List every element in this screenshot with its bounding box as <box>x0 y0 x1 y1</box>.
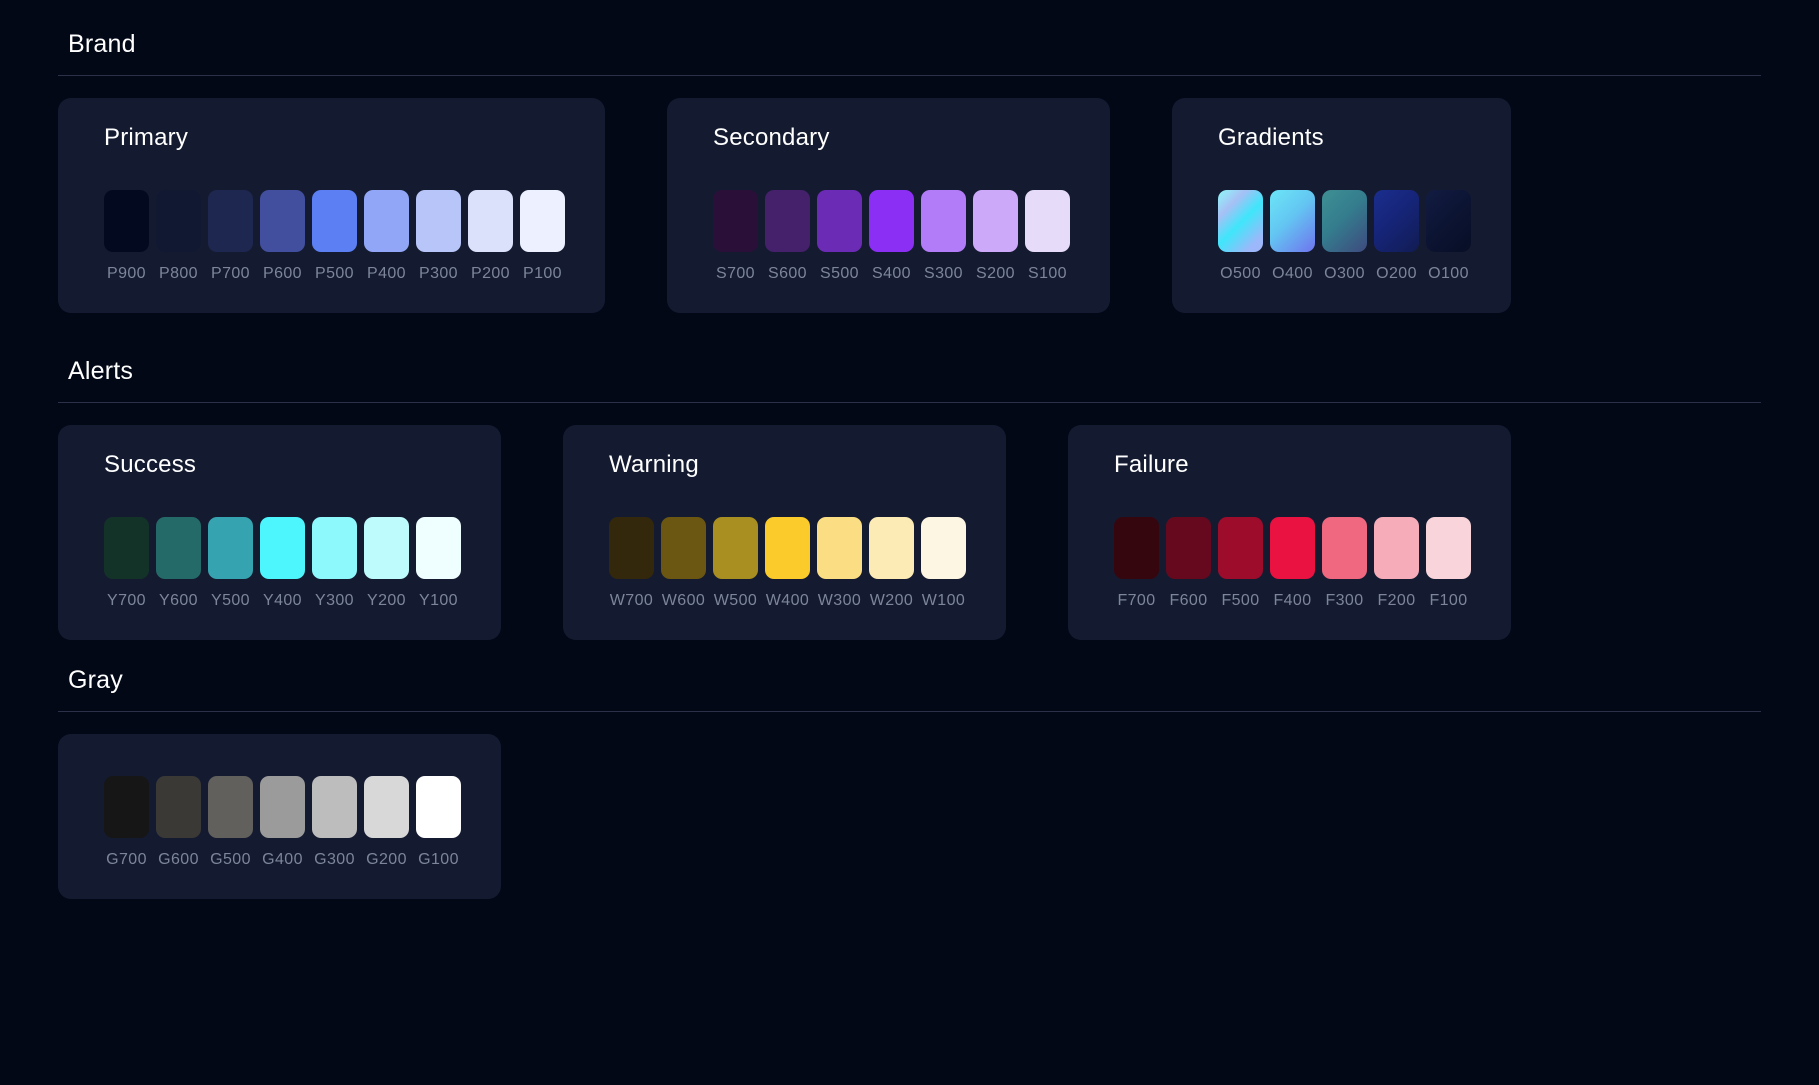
swatch-item[interactable]: G700 <box>104 776 149 869</box>
swatch-label: P500 <box>315 265 354 283</box>
swatch-item[interactable]: S100 <box>1025 190 1070 283</box>
color-swatch[interactable] <box>416 517 461 579</box>
swatch-item[interactable]: S400 <box>869 190 914 283</box>
palette-card-failure: Failure F700F600F500F400F300F200F100 <box>1068 425 1511 640</box>
color-swatch[interactable] <box>312 776 357 838</box>
color-swatch[interactable] <box>765 190 810 252</box>
swatch-label: F100 <box>1429 592 1467 610</box>
swatch-label: G700 <box>106 851 147 869</box>
swatch-item[interactable]: G500 <box>208 776 253 869</box>
swatch-item[interactable]: S300 <box>921 190 966 283</box>
color-swatch[interactable] <box>609 517 654 579</box>
swatch-label: F600 <box>1169 592 1207 610</box>
swatch-strip-secondary: S700S600S500S400S300S200S100 <box>713 190 1070 283</box>
color-swatch[interactable] <box>364 776 409 838</box>
swatch-item[interactable]: G600 <box>156 776 201 869</box>
swatch-item[interactable]: F500 <box>1218 517 1263 610</box>
swatch-label: G400 <box>262 851 303 869</box>
swatch-label: W600 <box>662 592 705 610</box>
swatch-label: O200 <box>1376 265 1417 283</box>
swatch-item[interactable]: P800 <box>156 190 201 283</box>
swatch-item[interactable]: P600 <box>260 190 305 283</box>
swatch-label: P900 <box>107 265 146 283</box>
color-swatch[interactable] <box>1322 517 1367 579</box>
color-swatch[interactable] <box>921 517 966 579</box>
swatch-item[interactable]: P900 <box>104 190 149 283</box>
swatch-label: F500 <box>1221 592 1259 610</box>
color-swatch[interactable] <box>416 776 461 838</box>
card-title-warning: Warning <box>609 451 966 479</box>
color-swatch[interactable] <box>1322 190 1367 252</box>
swatch-label: Y500 <box>211 592 250 610</box>
section-brand: Brand Primary P900P800P700P600P500P400P3… <box>58 30 1761 313</box>
swatch-item[interactable]: G200 <box>364 776 409 869</box>
color-swatch[interactable] <box>713 190 758 252</box>
swatch-item[interactable]: F700 <box>1114 517 1159 610</box>
swatch-label: F300 <box>1325 592 1363 610</box>
swatch-item[interactable]: P100 <box>520 190 565 283</box>
color-swatch[interactable] <box>1426 190 1471 252</box>
swatch-label: G600 <box>158 851 199 869</box>
swatch-item[interactable]: P300 <box>416 190 461 283</box>
swatch-label: Y200 <box>367 592 406 610</box>
color-swatch[interactable] <box>713 517 758 579</box>
swatch-label: P300 <box>419 265 458 283</box>
swatch-strip-primary: P900P800P700P600P500P400P300P200P100 <box>104 190 565 283</box>
color-swatch[interactable] <box>1218 190 1263 252</box>
palette-card-warning: Warning W700W600W500W400W300W200W100 <box>563 425 1006 640</box>
swatch-label: W500 <box>714 592 757 610</box>
color-swatch[interactable] <box>416 190 461 252</box>
swatch-label: S500 <box>820 265 859 283</box>
color-swatch[interactable] <box>973 190 1018 252</box>
color-swatch[interactable] <box>104 776 149 838</box>
card-title-success: Success <box>104 451 461 479</box>
swatch-label: G200 <box>366 851 407 869</box>
swatch-item[interactable]: W500 <box>713 517 758 610</box>
palette-card-gray: G700G600G500G400G300G200G100 <box>58 734 501 899</box>
swatch-item[interactable]: Y600 <box>156 517 201 610</box>
swatch-label: Y700 <box>107 592 146 610</box>
swatch-label: W200 <box>870 592 913 610</box>
swatch-item[interactable]: Y400 <box>260 517 305 610</box>
color-swatch[interactable] <box>817 517 862 579</box>
swatch-item[interactable]: W200 <box>869 517 914 610</box>
swatch-label: P100 <box>523 265 562 283</box>
card-title-gradients: Gradients <box>1218 124 1471 152</box>
swatch-item[interactable]: Y200 <box>364 517 409 610</box>
color-swatch[interactable] <box>260 517 305 579</box>
color-swatch[interactable] <box>1114 517 1159 579</box>
palette-card-success: Success Y700Y600Y500Y400Y300Y200Y100 <box>58 425 501 640</box>
section-alerts: Alerts Success Y700Y600Y500Y400Y300Y200Y… <box>58 357 1761 640</box>
color-swatch[interactable] <box>869 190 914 252</box>
swatch-item[interactable]: O100 <box>1426 190 1471 283</box>
palette-card-primary: Primary P900P800P700P600P500P400P300P200… <box>58 98 605 313</box>
swatch-item[interactable]: F200 <box>1374 517 1419 610</box>
swatch-item[interactable]: O400 <box>1270 190 1315 283</box>
color-swatch[interactable] <box>661 517 706 579</box>
color-swatch[interactable] <box>208 517 253 579</box>
swatch-item[interactable]: F600 <box>1166 517 1211 610</box>
color-swatch[interactable] <box>208 190 253 252</box>
swatch-label: G500 <box>210 851 251 869</box>
swatch-item[interactable]: P400 <box>364 190 409 283</box>
color-swatch[interactable] <box>260 190 305 252</box>
swatch-label: S700 <box>716 265 755 283</box>
color-swatch[interactable] <box>520 190 565 252</box>
swatch-item[interactable]: Y700 <box>104 517 149 610</box>
swatch-item[interactable]: W100 <box>921 517 966 610</box>
swatch-item[interactable]: O200 <box>1374 190 1419 283</box>
swatch-strip-warning: W700W600W500W400W300W200W100 <box>609 517 966 610</box>
swatch-label: W400 <box>766 592 809 610</box>
swatch-label: S200 <box>976 265 1015 283</box>
palette-card-gradients: Gradients O500O400O300O200O100 <box>1172 98 1511 313</box>
swatch-label: G300 <box>314 851 355 869</box>
color-palette-page: Brand Primary P900P800P700P600P500P400P3… <box>0 0 1819 1085</box>
color-swatch[interactable] <box>364 190 409 252</box>
swatch-item[interactable]: G400 <box>260 776 305 869</box>
color-swatch[interactable] <box>312 190 357 252</box>
section-heading-gray: Gray <box>58 666 1761 711</box>
swatch-strip-gray: G700G600G500G400G300G200G100 <box>104 776 461 869</box>
swatch-label: P600 <box>263 265 302 283</box>
color-swatch[interactable] <box>156 517 201 579</box>
swatch-item[interactable]: S700 <box>713 190 758 283</box>
swatch-strip-success: Y700Y600Y500Y400Y300Y200Y100 <box>104 517 461 610</box>
card-row-brand: Primary P900P800P700P600P500P400P300P200… <box>58 98 1761 313</box>
section-heading-brand: Brand <box>58 30 1761 75</box>
swatch-item[interactable]: P200 <box>468 190 513 283</box>
swatch-item[interactable]: S600 <box>765 190 810 283</box>
swatch-strip-gradients: O500O400O300O200O100 <box>1218 190 1471 283</box>
swatch-label: P800 <box>159 265 198 283</box>
swatch-label: O300 <box>1324 265 1365 283</box>
swatch-item[interactable]: S200 <box>973 190 1018 283</box>
card-title-secondary: Secondary <box>713 124 1070 152</box>
color-swatch[interactable] <box>921 190 966 252</box>
swatch-item[interactable]: P500 <box>312 190 357 283</box>
color-swatch[interactable] <box>1270 517 1315 579</box>
swatch-item[interactable]: W700 <box>609 517 654 610</box>
section-gray: Gray G700G600G500G400G300G200G100 <box>58 666 1761 899</box>
palette-card-secondary: Secondary S700S600S500S400S300S200S100 <box>667 98 1110 313</box>
swatch-label: Y600 <box>159 592 198 610</box>
color-swatch[interactable] <box>260 776 305 838</box>
swatch-label: P700 <box>211 265 250 283</box>
swatch-label: O400 <box>1272 265 1313 283</box>
section-heading-alerts: Alerts <box>58 357 1761 402</box>
swatch-item[interactable]: O300 <box>1322 190 1367 283</box>
swatch-item[interactable]: F400 <box>1270 517 1315 610</box>
swatch-label: F700 <box>1117 592 1155 610</box>
swatch-label: G100 <box>418 851 459 869</box>
swatch-label: Y400 <box>263 592 302 610</box>
color-swatch[interactable] <box>869 517 914 579</box>
card-title-primary: Primary <box>104 124 565 152</box>
swatch-label: Y100 <box>419 592 458 610</box>
swatch-item[interactable]: G300 <box>312 776 357 869</box>
swatch-label: O100 <box>1428 265 1469 283</box>
card-row-alerts: Success Y700Y600Y500Y400Y300Y200Y100 War… <box>58 425 1761 640</box>
section-divider-gray <box>58 711 1761 712</box>
color-swatch[interactable] <box>1374 517 1419 579</box>
color-swatch[interactable] <box>156 190 201 252</box>
swatch-item[interactable]: P700 <box>208 190 253 283</box>
swatch-label: S400 <box>872 265 911 283</box>
swatch-label: W700 <box>610 592 653 610</box>
swatch-label: Y300 <box>315 592 354 610</box>
color-swatch[interactable] <box>765 517 810 579</box>
swatch-item[interactable]: W600 <box>661 517 706 610</box>
color-swatch[interactable] <box>1270 190 1315 252</box>
color-swatch[interactable] <box>468 190 513 252</box>
swatch-item[interactable]: Y100 <box>416 517 461 610</box>
color-swatch[interactable] <box>364 517 409 579</box>
swatch-label: P400 <box>367 265 406 283</box>
swatch-label: S600 <box>768 265 807 283</box>
section-divider-brand <box>58 75 1761 76</box>
swatch-label: W100 <box>922 592 965 610</box>
card-title-failure: Failure <box>1114 451 1471 479</box>
color-swatch[interactable] <box>817 190 862 252</box>
swatch-item[interactable]: F100 <box>1426 517 1471 610</box>
section-divider-alerts <box>58 402 1761 403</box>
color-swatch[interactable] <box>1374 190 1419 252</box>
swatch-label: O500 <box>1220 265 1261 283</box>
color-swatch[interactable] <box>156 776 201 838</box>
swatch-item[interactable]: W400 <box>765 517 810 610</box>
swatch-item[interactable]: Y500 <box>208 517 253 610</box>
swatch-label: F200 <box>1377 592 1415 610</box>
color-swatch[interactable] <box>104 190 149 252</box>
swatch-item[interactable]: F300 <box>1322 517 1367 610</box>
swatch-item[interactable]: G100 <box>416 776 461 869</box>
color-swatch[interactable] <box>208 776 253 838</box>
swatch-label: F400 <box>1273 592 1311 610</box>
color-swatch[interactable] <box>1426 517 1471 579</box>
swatch-item[interactable]: W300 <box>817 517 862 610</box>
color-swatch[interactable] <box>1218 517 1263 579</box>
swatch-label: S300 <box>924 265 963 283</box>
swatch-item[interactable]: O500 <box>1218 190 1263 283</box>
swatch-strip-failure: F700F600F500F400F300F200F100 <box>1114 517 1471 610</box>
color-swatch[interactable] <box>1166 517 1211 579</box>
color-swatch[interactable] <box>312 517 357 579</box>
swatch-item[interactable]: Y300 <box>312 517 357 610</box>
swatch-label: S100 <box>1028 265 1067 283</box>
swatch-item[interactable]: S500 <box>817 190 862 283</box>
swatch-label: W300 <box>818 592 861 610</box>
color-swatch[interactable] <box>1025 190 1070 252</box>
color-swatch[interactable] <box>104 517 149 579</box>
card-row-gray: G700G600G500G400G300G200G100 <box>58 734 1761 899</box>
swatch-label: P200 <box>471 265 510 283</box>
